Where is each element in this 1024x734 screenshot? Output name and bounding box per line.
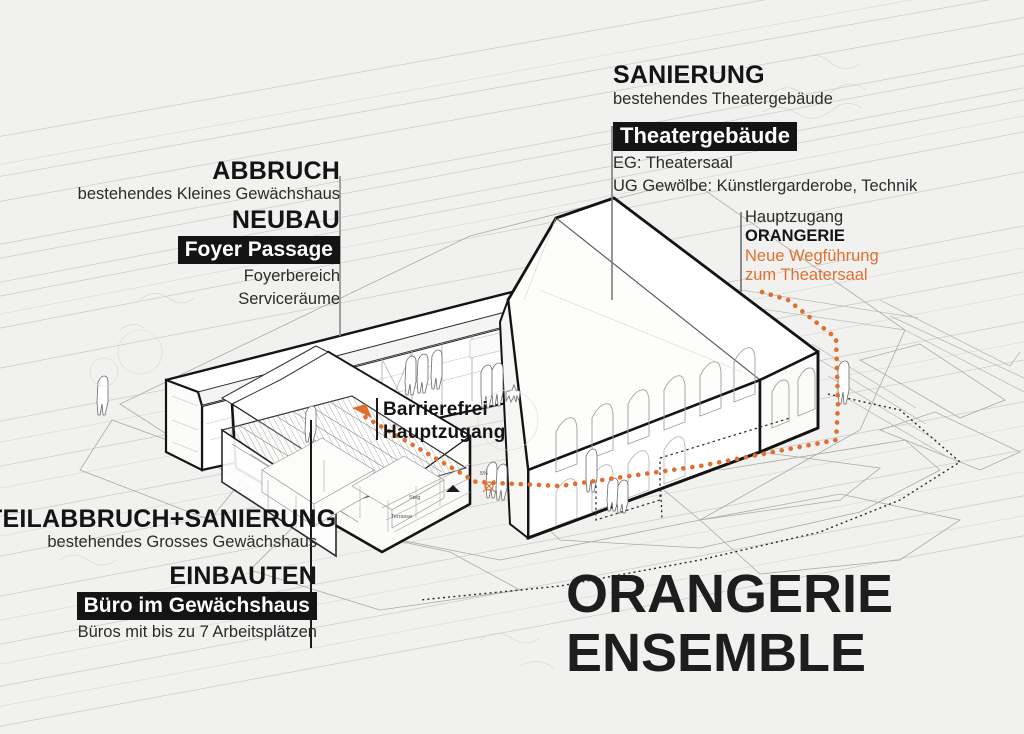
teilabbruch-subtitle: bestehendes Grosses Gewächshaus	[0, 533, 317, 552]
micro-label-terrasse: Terrasse	[391, 514, 412, 520]
einbauten-caption: EINBAUTEN	[0, 563, 317, 589]
theater-line1: EG: Theatersaal	[613, 154, 917, 173]
title-line-2: ENSEMBLE	[566, 624, 893, 683]
hauptzugang-line1: Hauptzugang	[745, 208, 879, 227]
label-theatergebaeude: Theatergebäude EG: Theatersaal UG Gewölb…	[613, 122, 917, 196]
abbruch-caption: ABBRUCH	[10, 158, 340, 184]
barrierefrei-line2: Hauptzugang	[383, 421, 506, 444]
hauptzugang-line4: zum Theatersaal	[745, 266, 879, 285]
einbauten-subtitle: Büros mit bis zu 7 Arbeitsplätzen	[0, 623, 317, 642]
hauptzugang-line2: ORANGERIE	[745, 227, 879, 246]
teilabbruch-caption: TEILABBRUCH+SANIERUNG	[0, 506, 317, 532]
einbauten-chip: Büro im Gewächshaus	[77, 592, 317, 620]
neubau-caption: NEUBAU	[10, 207, 340, 233]
theater-line2: UG Gewölbe: Künstlergarderobe, Technik	[613, 177, 917, 196]
neubau-line1: Foyerbereich	[10, 267, 340, 286]
sanierung-caption: SANIERUNG	[613, 62, 833, 88]
diagram-canvas: ABBRUCH bestehendes Kleines Gewächshaus …	[0, 0, 1024, 734]
theater-chip: Theatergebäude	[613, 122, 797, 151]
micro-label-steg: Steg	[409, 495, 420, 501]
label-neubau: NEUBAU Foyer Passage Foyerbereich Servic…	[10, 207, 340, 309]
title-line-1: ORANGERIE	[566, 565, 893, 624]
label-barrierefrei-hauptzugang: Barrierefrei Hauptzugang	[383, 398, 506, 444]
label-einbauten: EINBAUTEN Büro im Gewächshaus Büros mit …	[0, 563, 317, 643]
sanierung-subtitle: bestehendes Theatergebäude	[613, 90, 833, 109]
barrierefrei-line1: Barrierefrei	[383, 398, 506, 421]
neubau-line2: Serviceräume	[10, 290, 340, 309]
label-abbruch: ABBRUCH bestehendes Kleines Gewächshaus	[10, 158, 340, 205]
page-title: ORANGERIE ENSEMBLE	[566, 565, 893, 684]
label-sanierung: SANIERUNG bestehendes Theatergebäude	[613, 62, 833, 110]
label-hauptzugang-orangerie: Hauptzugang ORANGERIE Neue Wegführung zu…	[745, 208, 879, 286]
hauptzugang-line3: Neue Wegführung	[745, 247, 879, 266]
abbruch-subtitle: bestehendes Kleines Gewächshaus	[10, 185, 340, 204]
neubau-chip: Foyer Passage	[178, 236, 340, 264]
label-teilabbruch-sanierung: TEILABBRUCH+SANIERUNG bestehendes Grosse…	[0, 506, 317, 553]
micro-label-slope: 5%	[480, 471, 488, 477]
